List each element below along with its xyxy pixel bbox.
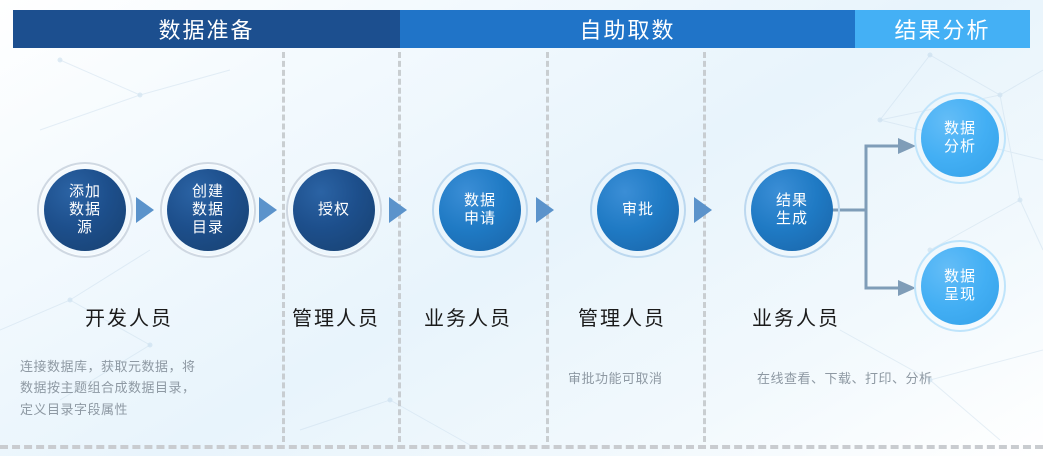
node-label-data-analysis: 数据分析 <box>944 120 976 155</box>
node-data-request[interactable]: 数据申请 <box>439 169 521 251</box>
description-line: 在线查看、下载、打印、分析 <box>757 368 933 389</box>
column-divider-2 <box>398 52 401 442</box>
role-label-business-2: 业务人员 <box>752 302 840 331</box>
phase-band-self-service-query[interactable]: 自助取数 <box>400 10 855 48</box>
description-approval: 审批功能可取消 <box>568 368 663 389</box>
description-analysis: 在线查看、下载、打印、分析 <box>757 368 933 389</box>
node-label-data-presentation: 数据呈现 <box>944 268 976 303</box>
column-divider-1 <box>282 52 285 442</box>
arrow-triangle-4-icon <box>536 197 554 223</box>
node-create-catalog[interactable]: 创建数据目录 <box>167 169 249 251</box>
description-data-preparation: 连接数据库，获取元数据，将 数据按主题组合成数据目录， 定义目录字段属性 <box>20 356 196 420</box>
node-label-authorize: 授权 <box>318 201 350 219</box>
node-label-approval: 审批 <box>622 201 654 219</box>
node-label-add-data-source: 添加数据源 <box>69 183 101 236</box>
arrow-triangle-3-icon <box>389 197 407 223</box>
arrow-triangle-1-icon <box>136 197 154 223</box>
node-data-presentation[interactable]: 数据呈现 <box>921 247 999 325</box>
role-label-manager-1: 管理人员 <box>292 302 380 331</box>
phase-band-data-preparation[interactable]: 数据准备 <box>13 10 400 48</box>
description-line: 数据按主题组合成数据目录， <box>20 377 196 398</box>
column-divider-3 <box>546 52 549 442</box>
role-label-manager-2: 管理人员 <box>578 302 666 331</box>
diagram-canvas: 数据准备 自助取数 结果分析 添加数据源 创建数据目录 授权 <box>0 0 1043 456</box>
node-label-result-generation: 结果生成 <box>776 192 808 227</box>
column-divider-4 <box>703 52 706 442</box>
node-result-generation[interactable]: 结果生成 <box>751 169 833 251</box>
phase-band-result-analysis[interactable]: 结果分析 <box>855 10 1030 48</box>
bottom-divider <box>0 445 1043 449</box>
phase-label-data-preparation: 数据准备 <box>158 13 254 45</box>
node-data-analysis[interactable]: 数据分析 <box>921 99 999 177</box>
description-line: 审批功能可取消 <box>568 368 663 389</box>
phase-label-self-service-query: 自助取数 <box>579 13 675 45</box>
description-line: 连接数据库，获取元数据，将 <box>20 356 196 377</box>
arrow-triangle-5-icon <box>694 197 712 223</box>
node-label-create-catalog: 创建数据目录 <box>192 183 224 236</box>
arrow-triangle-2-icon <box>259 197 277 223</box>
phase-label-result-analysis: 结果分析 <box>894 13 990 45</box>
node-approval[interactable]: 审批 <box>597 169 679 251</box>
description-line: 定义目录字段属性 <box>20 399 196 420</box>
node-label-data-request: 数据申请 <box>464 192 496 227</box>
role-label-business-1: 业务人员 <box>424 302 512 331</box>
phase-band-group: 数据准备 自助取数 结果分析 <box>13 10 1030 48</box>
node-authorize[interactable]: 授权 <box>293 169 375 251</box>
role-label-developer: 开发人员 <box>85 302 173 331</box>
node-add-data-source[interactable]: 添加数据源 <box>44 169 126 251</box>
